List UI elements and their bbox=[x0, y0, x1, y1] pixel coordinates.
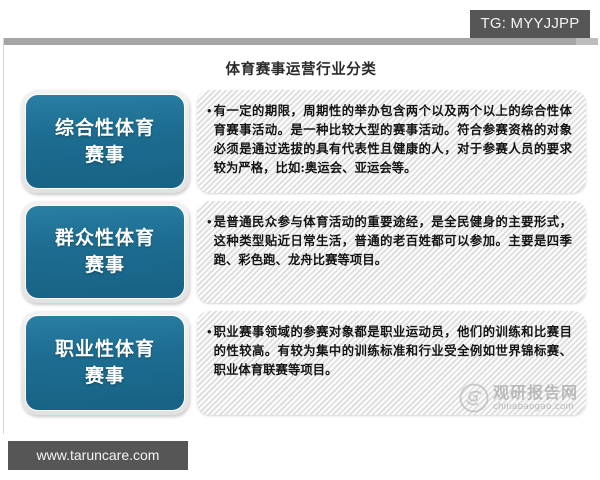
card-top-bar-tail bbox=[576, 38, 598, 45]
page-title: 体育赛事运营行业分类 bbox=[4, 58, 598, 79]
category-description-panel-3: • 职业赛事领域的参赛对象都是职业运动员，他们的训练和比赛目的性较高。有较为集中… bbox=[197, 311, 586, 415]
watermark-url: chinabaogao.com bbox=[493, 401, 578, 413]
category-label-chip-2[interactable]: 群众性体育 赛事 bbox=[21, 201, 189, 303]
category-label-chip-3[interactable]: 职业性体育 赛事 bbox=[21, 311, 189, 415]
source-url-badge: www.taruncare.com bbox=[8, 441, 188, 470]
spiral-logo-icon bbox=[459, 383, 489, 413]
category-label-chip-1[interactable]: 综合性体育 赛事 bbox=[21, 90, 189, 193]
category-row: 职业性体育 赛事 • 职业赛事领域的参赛对象都是职业运动员，他们的训练和比赛目的… bbox=[4, 311, 598, 415]
tg-watermark-label: TG: MYYJJPP bbox=[481, 15, 580, 32]
category-description-panel-2: • 是普通民众参与体育活动的重要途经，是全民健身的主要形式，这种类型贴近日常生活… bbox=[197, 201, 586, 303]
category-description-text: 有一定的期限，周期性的举办包含两个以及两个以上的综合性体育赛事活动。是一种比较大… bbox=[214, 101, 572, 177]
category-row: 群众性体育 赛事 • 是普通民众参与体育活动的重要途经，是全民健身的主要形式，这… bbox=[4, 201, 598, 303]
category-description-text: 职业赛事领域的参赛对象都是职业运动员，他们的训练和比赛目的性较高。有较为集中的训… bbox=[214, 322, 572, 379]
card-top-bar bbox=[4, 38, 598, 45]
category-label-text: 职业性体育 赛事 bbox=[25, 315, 185, 411]
chinabaogao-watermark: 观研报告网 chinabaogao.com bbox=[459, 383, 578, 413]
category-description-text: 是普通民众参与体育活动的重要途经，是全民健身的主要形式，这种类型贴近日常生活，普… bbox=[214, 212, 572, 269]
category-description-panel-1: • 有一定的期限，周期性的举办包含两个以及两个以上的综合性体育赛事活动。是一种比… bbox=[197, 90, 586, 193]
category-label-text: 群众性体育 赛事 bbox=[25, 205, 185, 299]
category-rows: 综合性体育 赛事 • 有一定的期限，周期性的举办包含两个以及两个以上的综合性体育… bbox=[4, 90, 598, 423]
source-url-label: www.taruncare.com bbox=[37, 447, 160, 463]
category-label-text: 综合性体育 赛事 bbox=[25, 94, 185, 189]
tg-watermark-badge: TG: MYYJJPP bbox=[470, 10, 590, 38]
category-row: 综合性体育 赛事 • 有一定的期限，周期性的举办包含两个以及两个以上的综合性体育… bbox=[4, 90, 598, 193]
infographic-card: 体育赛事运营行业分类 综合性体育 赛事 • 有一定的期限，周期性的举办包含两个以… bbox=[3, 38, 597, 434]
